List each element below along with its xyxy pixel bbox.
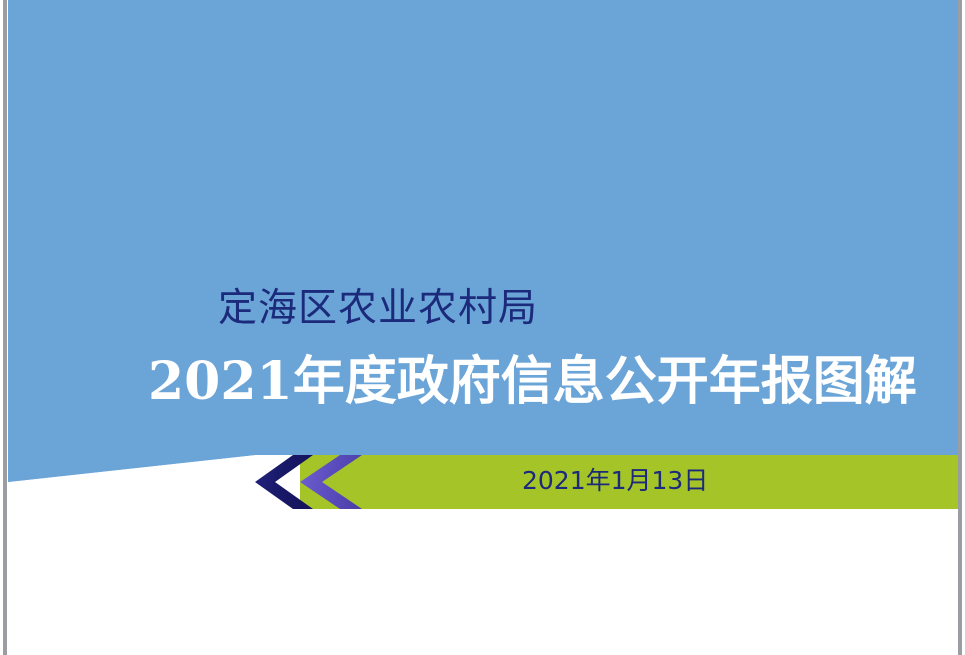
left-edge-rail [3, 0, 7, 655]
left-edge-gap [0, 0, 3, 655]
green-accent-band [300, 455, 958, 509]
presentation-slide: 定海区农业农村局 2021年度政府信息公开年报图解 2021年1月13日 [0, 0, 965, 655]
bottom-white-area [8, 509, 958, 655]
blue-background-panel [8, 0, 958, 482]
